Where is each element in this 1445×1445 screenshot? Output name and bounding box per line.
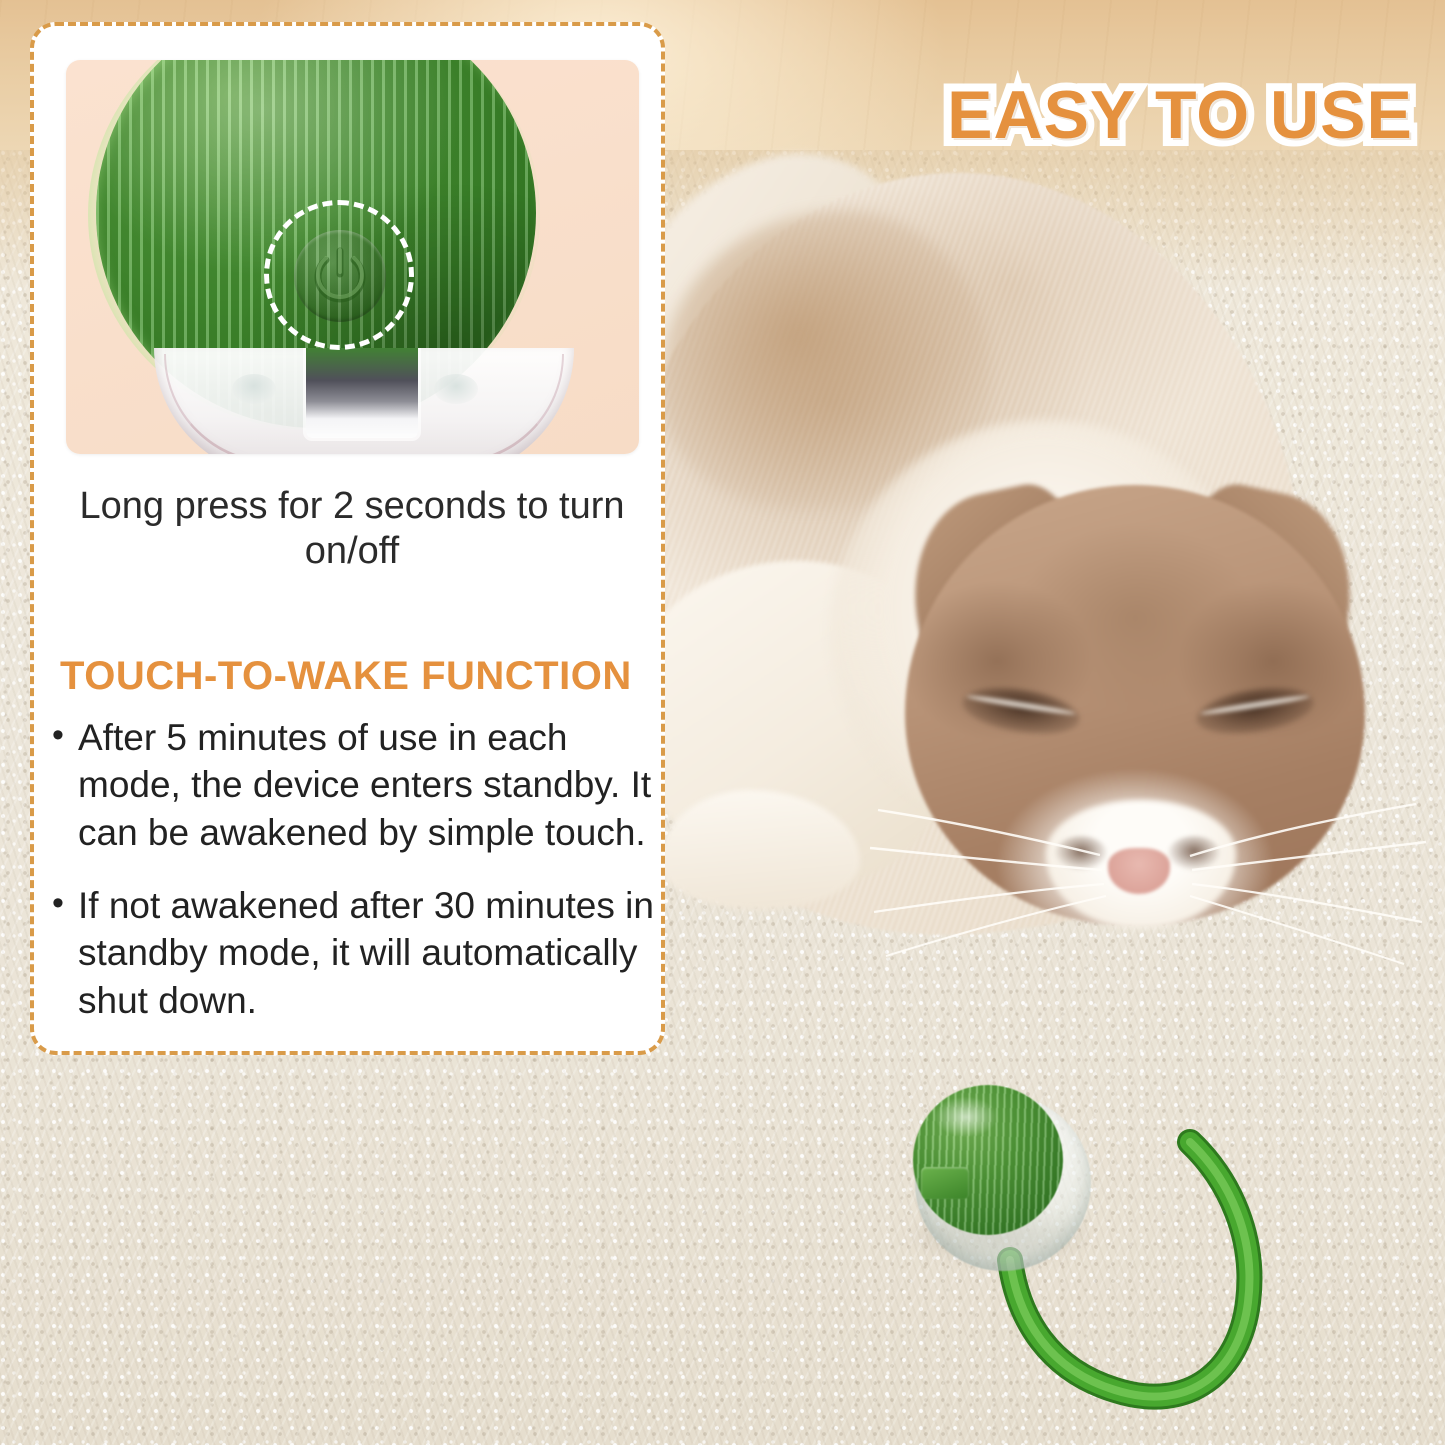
power-button-caption: Long press for 2 seconds to turn on/off bbox=[72, 484, 632, 574]
info-card: Long press for 2 seconds to turn on/off … bbox=[30, 22, 665, 1055]
bullet-marker: • bbox=[52, 882, 78, 1024]
power-button-inset-photo bbox=[66, 60, 639, 454]
page-title-text: EASY TO USE bbox=[947, 76, 1413, 154]
inset-base-led-right bbox=[434, 374, 478, 404]
bullet-text: If not awakened after 30 minutes in stan… bbox=[78, 882, 658, 1024]
toy-ball-highlight bbox=[935, 1097, 997, 1137]
power-icon bbox=[294, 230, 386, 322]
list-item: • If not awakened after 30 minutes in st… bbox=[52, 882, 658, 1024]
toy-ball-green-shell bbox=[913, 1085, 1063, 1235]
cat-whiskers bbox=[860, 760, 1440, 990]
bullet-text: After 5 minutes of use in each mode, the… bbox=[78, 714, 658, 856]
inset-base-led-left bbox=[232, 374, 276, 404]
page-title: EASY TO USE bbox=[930, 60, 1430, 170]
section-title-touch-to-wake: TOUCH-TO-WAKE FUNCTION bbox=[60, 654, 660, 699]
inset-base-charging-port bbox=[306, 348, 418, 438]
bullet-marker: • bbox=[52, 714, 78, 856]
list-item: • After 5 minutes of use in each mode, t… bbox=[52, 714, 658, 856]
toy-ball-button-tab bbox=[921, 1167, 969, 1199]
feature-bullet-list: • After 5 minutes of use in each mode, t… bbox=[52, 714, 658, 1050]
inset-ball-clear-base bbox=[154, 348, 574, 454]
